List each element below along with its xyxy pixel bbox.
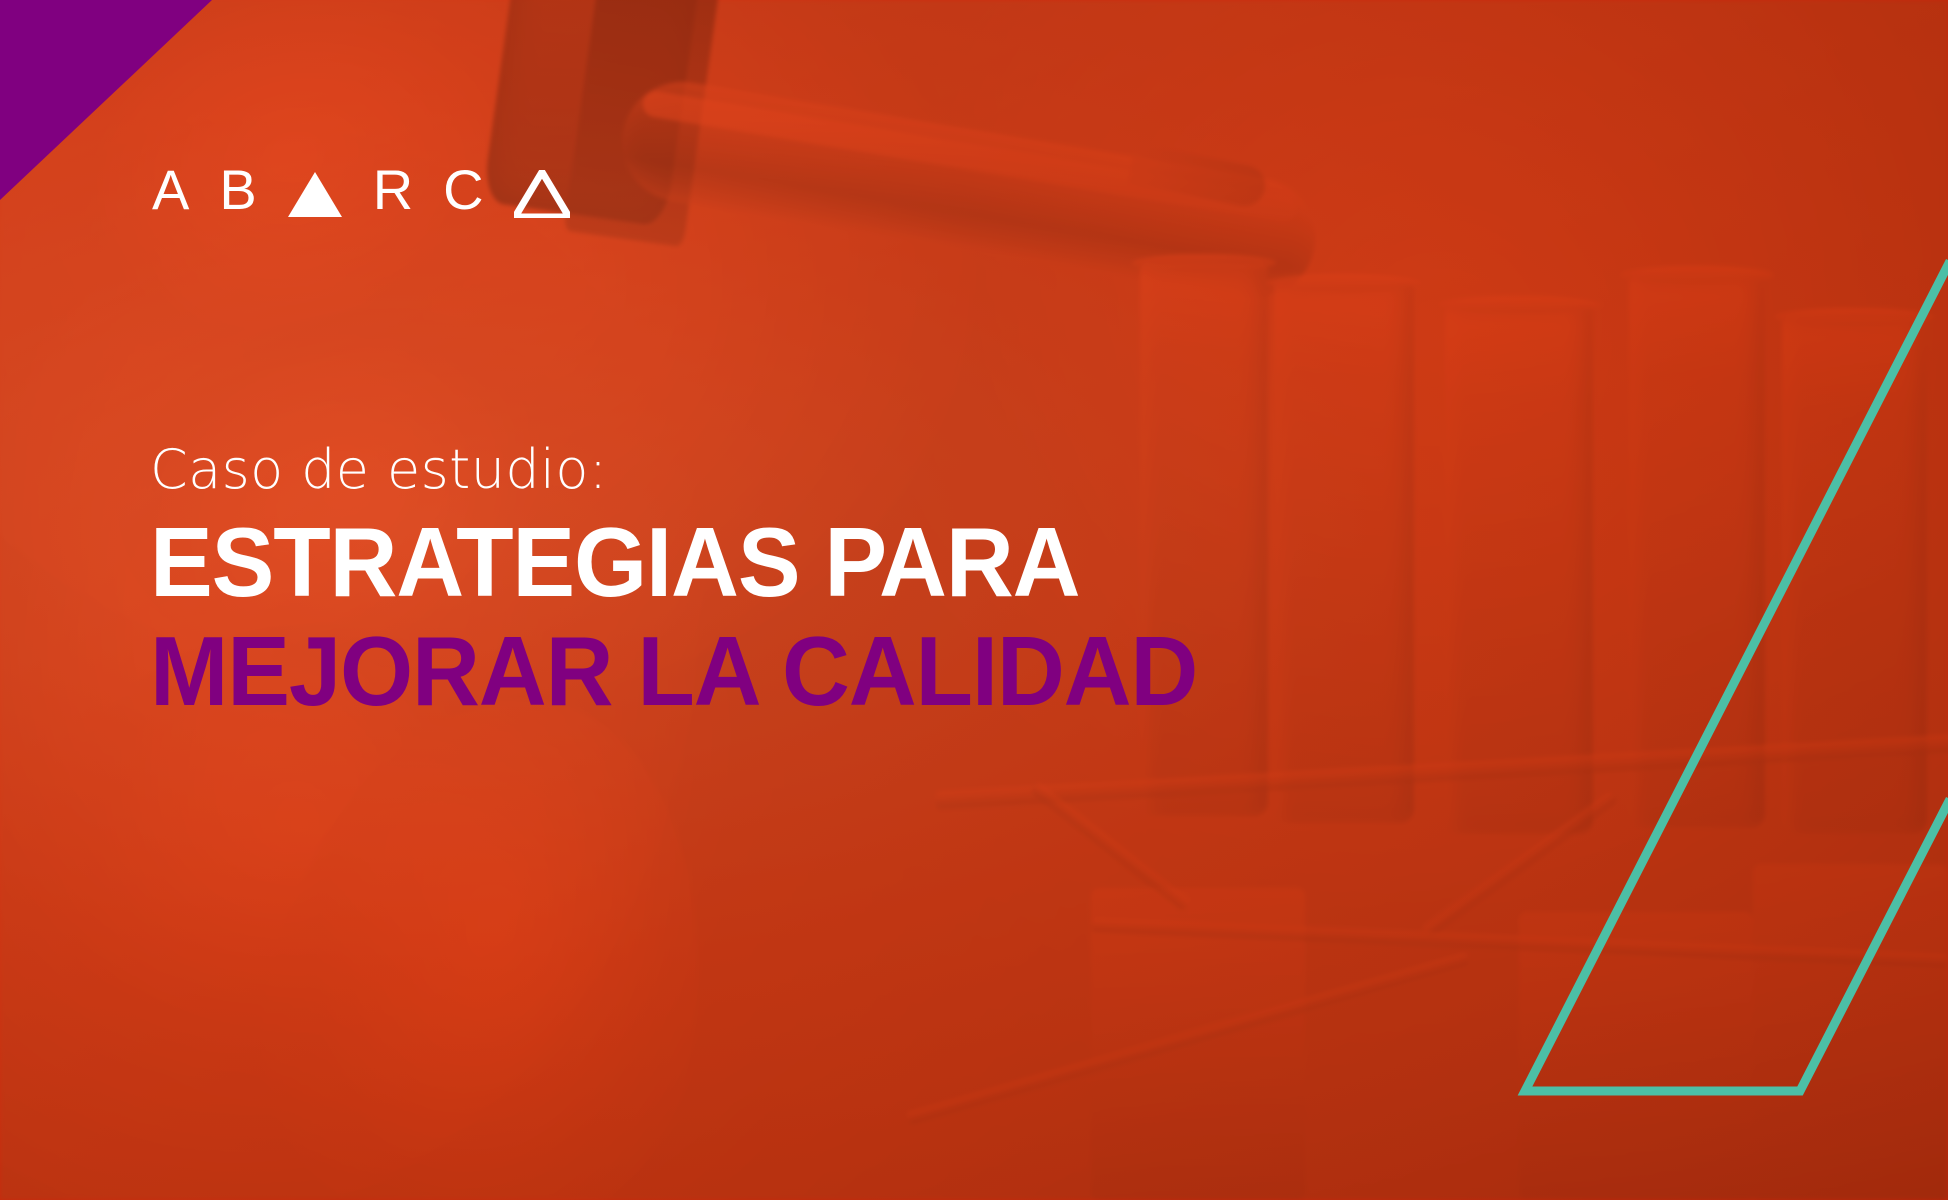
headline-line-2: MEJORAR LA CALIDAD [150, 617, 1398, 727]
eyebrow-label: Caso de estudio: [150, 438, 1450, 502]
headline-line-1: ESTRATEGIAS PARA [150, 508, 1398, 618]
logo-letter-a-solid-triangle-icon [287, 170, 343, 218]
teal-parallelogram-outline-icon [1478, 255, 1948, 1115]
logo-letter-a-outline-triangle-icon [514, 170, 570, 218]
page-title: ESTRATEGIAS PARA MEJORAR LA CALIDAD [150, 508, 1450, 728]
abarca-case-study-banner: A B R C Caso de estudio: ESTRATEGIAS PAR… [0, 0, 1948, 1200]
logo-letter-b: B [219, 162, 256, 218]
abarca-logo[interactable]: A B R C [152, 162, 570, 218]
logo-letter-a1: A [152, 162, 189, 218]
hero-copy-block: Caso de estudio: ESTRATEGIAS PARA MEJORA… [150, 438, 1450, 727]
logo-letter-c: C [443, 162, 483, 218]
logo-letter-r: R [373, 162, 413, 218]
